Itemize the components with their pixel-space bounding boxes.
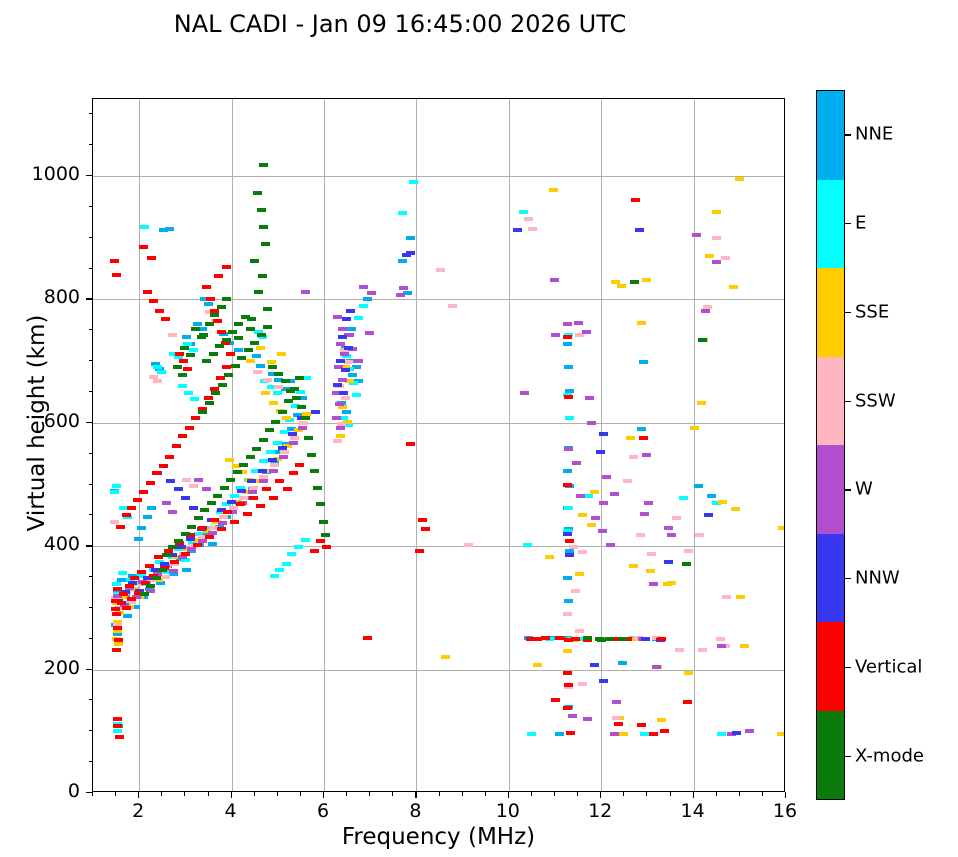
y-tick-minor <box>89 699 93 700</box>
data-marker <box>712 260 721 264</box>
data-marker <box>230 494 239 498</box>
data-marker <box>244 348 253 352</box>
data-marker <box>578 550 587 554</box>
data-marker <box>564 599 573 603</box>
data-marker <box>210 313 219 317</box>
data-marker <box>219 515 228 519</box>
data-marker <box>161 575 170 579</box>
data-marker <box>143 290 152 294</box>
data-marker <box>157 370 166 374</box>
data-marker <box>234 322 243 326</box>
x-tick-minor <box>439 792 440 796</box>
data-marker <box>551 333 560 337</box>
gridline-vertical <box>232 99 233 791</box>
data-marker <box>464 543 473 547</box>
data-marker <box>197 335 206 339</box>
data-marker <box>207 501 216 505</box>
colorbar-segment-sse[interactable] <box>817 268 844 357</box>
data-marker <box>322 545 331 549</box>
data-marker <box>319 520 328 524</box>
data-marker <box>286 389 295 393</box>
x-tick-major <box>415 792 416 798</box>
data-marker <box>265 428 274 432</box>
data-marker <box>159 464 168 468</box>
data-marker <box>110 520 119 524</box>
colorbar-tick <box>845 312 851 313</box>
data-marker <box>200 508 209 512</box>
gridline-horizontal <box>93 176 784 177</box>
data-marker <box>347 327 356 331</box>
data-marker <box>563 649 572 653</box>
data-marker <box>352 393 361 397</box>
data-marker <box>178 384 187 388</box>
y-tick-major <box>86 792 92 793</box>
data-marker <box>140 592 149 596</box>
data-marker <box>237 356 246 360</box>
data-marker <box>602 475 611 479</box>
data-marker <box>278 410 287 414</box>
data-marker <box>564 447 573 451</box>
data-marker <box>202 487 211 491</box>
data-marker <box>311 410 320 414</box>
data-marker <box>363 636 372 640</box>
data-marker <box>191 416 200 420</box>
colorbar-tick <box>845 489 851 490</box>
data-marker <box>304 436 313 440</box>
data-marker <box>297 405 306 409</box>
data-marker <box>189 484 198 488</box>
data-marker <box>183 367 192 371</box>
x-tick-minor <box>346 792 347 796</box>
data-marker <box>217 330 226 334</box>
y-tick-minor <box>89 607 93 608</box>
data-marker <box>316 502 325 506</box>
y-tick-minor <box>89 730 93 731</box>
data-marker <box>194 516 203 520</box>
data-marker <box>122 513 131 517</box>
colorbar-label-ssw: SSW <box>855 390 896 411</box>
data-marker <box>249 496 258 500</box>
data-marker <box>630 280 639 284</box>
data-marker <box>222 265 231 269</box>
data-marker <box>189 348 198 352</box>
colorbar[interactable] <box>816 90 845 800</box>
data-marker <box>605 637 614 641</box>
data-marker <box>339 391 348 395</box>
data-marker <box>778 526 785 530</box>
data-marker <box>640 512 649 516</box>
data-marker <box>336 359 345 363</box>
data-marker <box>565 416 574 420</box>
data-marker <box>578 682 587 686</box>
data-marker <box>571 637 580 641</box>
data-marker <box>275 568 284 572</box>
data-marker <box>162 501 171 505</box>
data-marker <box>261 242 270 246</box>
data-marker <box>336 434 345 438</box>
data-marker <box>344 360 353 364</box>
data-marker <box>338 378 347 382</box>
x-tick-minor <box>208 792 209 796</box>
data-marker <box>635 228 644 232</box>
data-marker <box>254 290 263 294</box>
data-marker <box>596 450 605 454</box>
data-marker <box>555 732 564 736</box>
data-marker <box>112 648 121 652</box>
data-marker <box>273 391 282 395</box>
data-marker <box>204 302 213 306</box>
x-tick-major <box>600 792 601 798</box>
data-marker <box>316 539 325 543</box>
data-marker <box>777 732 785 736</box>
y-tick-minor <box>89 576 93 577</box>
x-tick-label: 4 <box>201 800 261 822</box>
data-marker <box>519 210 528 214</box>
data-marker <box>513 228 522 232</box>
data-marker <box>161 317 170 321</box>
data-marker <box>612 700 621 704</box>
data-marker <box>585 396 594 400</box>
data-marker <box>222 338 231 342</box>
data-marker <box>667 581 676 585</box>
data-marker <box>175 352 184 356</box>
data-marker <box>125 584 134 588</box>
data-marker <box>549 188 558 192</box>
data-marker <box>257 208 266 212</box>
data-marker <box>406 251 415 255</box>
data-marker <box>162 553 171 557</box>
data-marker <box>213 319 222 323</box>
colorbar-label-nnw: NNW <box>855 568 900 589</box>
data-marker <box>112 582 121 586</box>
y-tick-minor <box>89 484 93 485</box>
x-tick-minor <box>161 792 162 796</box>
data-marker <box>178 434 187 438</box>
data-marker <box>208 542 217 546</box>
y-tick-minor <box>89 206 93 207</box>
data-marker <box>333 439 342 443</box>
data-marker <box>266 450 275 454</box>
data-marker <box>204 396 213 400</box>
data-marker <box>367 291 376 295</box>
data-marker <box>313 486 322 490</box>
data-marker <box>273 441 282 445</box>
data-marker <box>113 729 122 733</box>
data-marker <box>631 198 640 202</box>
data-marker <box>344 346 353 350</box>
data-marker <box>274 372 283 376</box>
data-marker <box>740 644 749 648</box>
data-marker <box>223 510 232 514</box>
data-marker <box>193 322 202 326</box>
data-marker <box>216 376 225 380</box>
data-marker <box>267 360 276 364</box>
data-marker <box>629 564 638 568</box>
data-marker <box>180 346 189 350</box>
data-marker <box>448 304 457 308</box>
x-tick-minor <box>485 792 486 796</box>
data-marker <box>735 177 744 181</box>
data-marker <box>209 352 218 356</box>
data-marker <box>140 225 149 229</box>
x-tick-minor <box>254 792 255 796</box>
data-marker <box>182 478 191 482</box>
x-tick-major <box>508 792 509 798</box>
data-marker <box>283 487 292 491</box>
data-marker <box>170 560 179 564</box>
data-marker <box>365 331 374 335</box>
data-marker <box>189 506 198 510</box>
data-marker <box>182 568 191 572</box>
data-marker <box>590 490 599 494</box>
gridline-horizontal <box>93 423 784 424</box>
data-marker <box>563 612 572 616</box>
colorbar-segment-w[interactable] <box>817 445 844 534</box>
data-marker <box>575 572 584 576</box>
data-marker <box>406 236 415 240</box>
colorbar-label-vertical: Vertical <box>855 656 922 677</box>
colorbar-segment-nne[interactable] <box>817 91 844 180</box>
data-marker <box>250 259 259 263</box>
data-marker <box>146 481 155 485</box>
data-marker <box>289 471 298 475</box>
y-tick-minor <box>89 360 93 361</box>
data-marker <box>231 364 240 368</box>
data-marker <box>217 305 226 309</box>
data-marker <box>564 683 573 687</box>
data-marker <box>307 453 316 457</box>
data-marker <box>275 479 284 483</box>
data-marker <box>270 463 279 467</box>
data-marker <box>574 321 583 325</box>
x-tick-major <box>693 792 694 798</box>
data-marker <box>174 539 183 543</box>
data-marker <box>246 327 255 331</box>
data-marker <box>248 490 257 494</box>
y-tick-minor <box>89 638 93 639</box>
data-marker <box>152 471 161 475</box>
data-marker <box>683 700 692 704</box>
data-marker <box>641 637 650 641</box>
y-tick-minor <box>89 144 93 145</box>
data-marker <box>346 309 355 313</box>
x-tick-label: 16 <box>755 800 815 822</box>
data-marker <box>682 562 691 566</box>
data-marker <box>114 642 123 646</box>
data-marker <box>644 501 653 505</box>
data-marker <box>610 492 619 496</box>
data-marker <box>269 469 278 473</box>
x-tick-minor <box>646 792 647 796</box>
data-marker <box>239 463 248 467</box>
data-marker <box>187 525 196 529</box>
x-tick-minor <box>623 792 624 796</box>
x-tick-minor <box>184 792 185 796</box>
colorbar-segment-vertical[interactable] <box>817 622 844 711</box>
x-tick-minor <box>115 792 116 796</box>
data-marker <box>256 346 265 350</box>
data-marker <box>636 533 645 537</box>
data-marker <box>133 498 142 502</box>
data-marker <box>333 383 342 387</box>
data-marker <box>115 735 124 739</box>
data-marker <box>587 523 596 527</box>
data-marker <box>399 286 408 290</box>
y-tick-minor <box>89 113 93 114</box>
data-marker <box>237 489 246 493</box>
x-tick-major <box>785 792 786 798</box>
data-marker <box>572 461 581 465</box>
colorbar-segment-e[interactable] <box>817 180 844 269</box>
x-tick-minor <box>670 792 671 796</box>
data-marker <box>194 478 203 482</box>
data-marker <box>568 714 577 718</box>
data-marker <box>618 661 627 665</box>
data-marker <box>158 568 167 572</box>
data-marker <box>566 731 575 735</box>
data-marker <box>610 732 619 736</box>
data-marker <box>660 729 669 733</box>
data-marker <box>269 401 278 405</box>
y-tick-major <box>86 422 92 423</box>
data-marker <box>289 441 298 445</box>
data-marker <box>206 297 215 301</box>
data-marker <box>617 284 626 288</box>
data-marker <box>113 724 122 728</box>
data-marker <box>565 539 574 543</box>
data-marker <box>205 535 214 539</box>
data-marker <box>528 227 537 231</box>
data-marker <box>191 327 200 331</box>
gridline-vertical <box>139 99 140 791</box>
data-marker <box>637 427 646 431</box>
data-marker <box>222 365 231 369</box>
x-tick-minor <box>577 792 578 796</box>
data-marker <box>178 373 187 377</box>
data-marker <box>576 494 585 498</box>
data-marker <box>222 297 231 301</box>
data-marker <box>270 574 279 578</box>
data-marker <box>252 354 261 358</box>
y-tick-major <box>86 545 92 546</box>
x-tick-label: 8 <box>385 800 445 822</box>
data-marker <box>612 716 621 720</box>
data-marker <box>555 636 564 640</box>
data-marker <box>619 732 628 736</box>
data-marker <box>230 520 239 524</box>
data-marker <box>707 494 716 498</box>
colorbar-segment-ssw[interactable] <box>817 357 844 446</box>
data-marker <box>649 732 658 736</box>
data-marker <box>599 501 608 505</box>
data-marker <box>236 502 245 506</box>
data-marker <box>415 549 424 553</box>
x-tick-label: 14 <box>663 800 723 822</box>
x-tick-major <box>323 792 324 798</box>
y-tick-major <box>86 298 92 299</box>
gridline-vertical <box>601 99 602 791</box>
data-marker <box>563 671 572 675</box>
data-marker <box>246 455 255 459</box>
colorbar-segment-nnw[interactable] <box>817 534 844 623</box>
y-tick-label: 200 <box>10 657 80 679</box>
data-marker <box>421 527 430 531</box>
data-marker <box>684 671 693 675</box>
data-marker <box>354 316 363 320</box>
data-marker <box>310 549 319 553</box>
colorbar-segment-x-mode[interactable] <box>817 711 844 800</box>
data-marker <box>398 211 407 215</box>
data-marker <box>114 638 123 642</box>
x-tick-label: 6 <box>293 800 353 822</box>
data-marker <box>211 391 220 395</box>
data-marker <box>729 285 738 289</box>
data-marker <box>675 648 684 652</box>
data-marker <box>182 335 191 339</box>
data-marker <box>127 597 136 601</box>
data-marker <box>587 421 596 425</box>
data-marker <box>704 513 713 517</box>
data-marker <box>261 391 270 395</box>
data-marker <box>732 731 741 735</box>
data-marker <box>190 397 199 401</box>
x-tick-minor <box>554 792 555 796</box>
data-marker <box>263 307 272 311</box>
data-marker <box>575 333 584 337</box>
data-marker <box>143 515 152 519</box>
data-marker <box>642 278 651 282</box>
data-marker <box>721 256 730 260</box>
y-tick-minor <box>89 237 93 238</box>
data-marker <box>258 274 267 278</box>
data-marker <box>640 732 649 736</box>
data-marker <box>441 655 450 659</box>
data-marker <box>564 506 573 510</box>
data-marker <box>591 516 600 520</box>
data-marker <box>564 395 573 399</box>
gridline-vertical <box>324 99 325 791</box>
data-marker <box>698 338 707 342</box>
data-marker <box>564 365 573 369</box>
data-marker <box>563 469 572 473</box>
data-marker <box>193 543 202 547</box>
x-tick-minor <box>531 792 532 796</box>
data-marker <box>348 373 357 377</box>
x-tick-major <box>231 792 232 798</box>
x-tick-label: 12 <box>570 800 630 822</box>
data-marker <box>716 637 725 641</box>
data-marker <box>701 309 710 313</box>
data-marker <box>338 327 347 331</box>
data-marker <box>113 587 122 591</box>
data-marker <box>332 416 341 420</box>
data-marker <box>563 335 572 339</box>
data-marker <box>292 396 301 400</box>
data-marker <box>202 359 211 363</box>
colorbar-label-w: W <box>855 479 873 500</box>
data-marker <box>639 360 648 364</box>
plot-area[interactable] <box>92 98 785 792</box>
data-marker <box>137 570 146 574</box>
data-marker <box>172 444 181 448</box>
data-marker <box>112 612 121 616</box>
data-marker <box>583 717 592 721</box>
data-marker <box>202 285 211 289</box>
data-marker <box>147 506 156 510</box>
y-tick-minor <box>89 268 93 269</box>
data-marker <box>563 342 572 346</box>
colorbar-tick <box>845 401 851 402</box>
